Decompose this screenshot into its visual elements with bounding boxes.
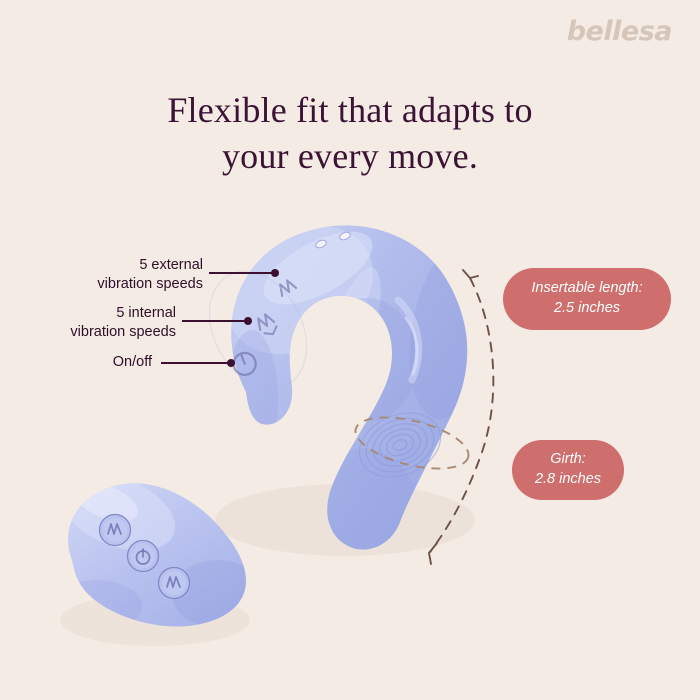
callout-on-off: On/off <box>40 353 152 372</box>
page-title: Flexible fit that adapts to your every m… <box>0 88 700 179</box>
badge-girth-line-1: Girth: <box>550 450 585 470</box>
callout-external-speeds: 5 external vibration speeds <box>20 256 203 294</box>
infographic-canvas: bellesa Flexible fit that adapts to your… <box>0 0 700 700</box>
callout-internal-speeds-line-1: 5 internal <box>0 304 176 323</box>
headline-line-1: Flexible fit that adapts to <box>0 88 700 134</box>
callout-external-speeds-line-2: vibration speeds <box>20 275 203 294</box>
callout-external-speeds-line-1: 5 external <box>20 256 203 275</box>
badge-girth: Girth: 2.8 inches <box>512 440 624 500</box>
badge-insertable-length-line-1: Insertable length: <box>531 279 642 299</box>
leader-line-internal-speeds <box>182 320 248 322</box>
headline-line-2: your every move. <box>0 134 700 180</box>
remote-button-wave-top[interactable] <box>100 515 131 546</box>
badge-girth-line-2: 2.8 inches <box>535 470 601 490</box>
badge-insertable-length: Insertable length: 2.5 inches <box>503 268 671 330</box>
leader-line-external-speeds <box>209 272 275 274</box>
badge-insertable-length-line-2: 2.5 inches <box>554 299 620 319</box>
callout-on-off-line-1: On/off <box>40 353 152 372</box>
callout-internal-speeds-line-2: vibration speeds <box>0 323 176 342</box>
brand-logo: bellesa <box>567 18 672 45</box>
leader-line-on-off <box>161 362 231 364</box>
remote-button-wave-bottom[interactable] <box>159 568 190 599</box>
callout-internal-speeds: 5 internal vibration speeds <box>0 304 176 342</box>
remote-button-power[interactable] <box>128 541 159 572</box>
